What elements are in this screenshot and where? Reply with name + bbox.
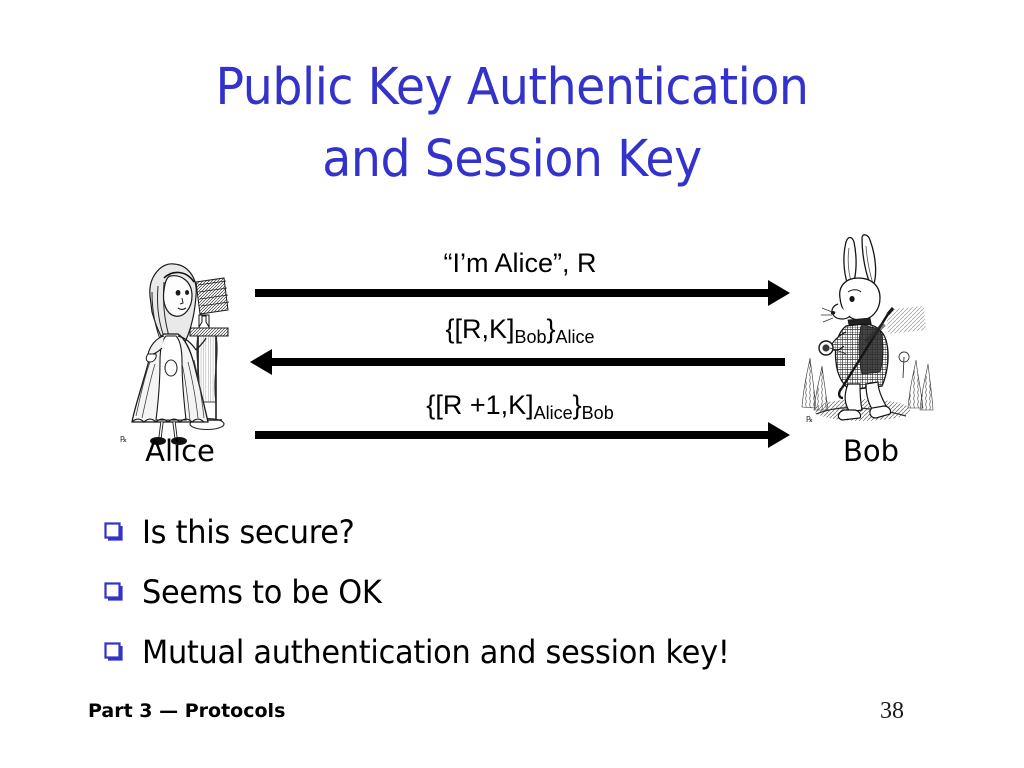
hollow-square-bullet-icon — [104, 512, 142, 542]
message-2-subscript-outer: Alice — [556, 327, 595, 347]
list-item: Seems to be OK — [104, 572, 954, 614]
list-item: Is this secure? — [104, 512, 954, 554]
message-1-text: “I’m Alice”, R — [443, 248, 596, 278]
white-rabbit-illustration: ℞ — [800, 232, 935, 432]
arrow-msg-1 — [255, 280, 790, 306]
alice-illustration: ℞ — [112, 252, 232, 452]
hollow-square-bullet-icon — [104, 572, 142, 602]
message-2-close-brace: } — [547, 314, 556, 344]
bullet-text: Mutual authentication and session key! — [142, 632, 730, 672]
slide-page-number: 38 — [880, 698, 940, 725]
hollow-square-bullet-icon — [104, 632, 142, 662]
party-label-bob: Bob — [806, 434, 936, 468]
message-3-close-brace: } — [573, 390, 582, 420]
message-3-body: {[R +1,K] — [426, 390, 533, 420]
protocol-message-1: “I’m Alice”, R — [255, 250, 785, 277]
bullet-list: Is this secure? Seems to be OK Mutual au… — [104, 512, 954, 692]
message-2-subscript-inner: Bob — [514, 327, 546, 347]
bullet-text: Is this secure? — [142, 512, 355, 552]
list-item: Mutual authentication and session key! — [104, 632, 954, 674]
message-3-subscript-inner: Alice — [534, 403, 573, 423]
footer-part-label: Part 3 — Protocols — [88, 700, 285, 722]
message-2-body: {[R,K] — [445, 314, 514, 344]
svg-text:℞: ℞ — [806, 415, 813, 424]
message-3-subscript-outer: Bob — [582, 403, 614, 423]
arrow-msg-3 — [255, 422, 790, 448]
protocol-message-3: {[R +1,K]Alice}Bob — [255, 392, 785, 419]
protocol-message-2: {[R,K]Bob}Alice — [255, 316, 785, 343]
arrow-msg-2 — [250, 349, 785, 375]
bullet-text: Seems to be OK — [142, 572, 382, 612]
slide-canvas: Public Key Authentication and Session Ke… — [0, 0, 1024, 768]
party-label-alice: Alice — [110, 434, 250, 468]
